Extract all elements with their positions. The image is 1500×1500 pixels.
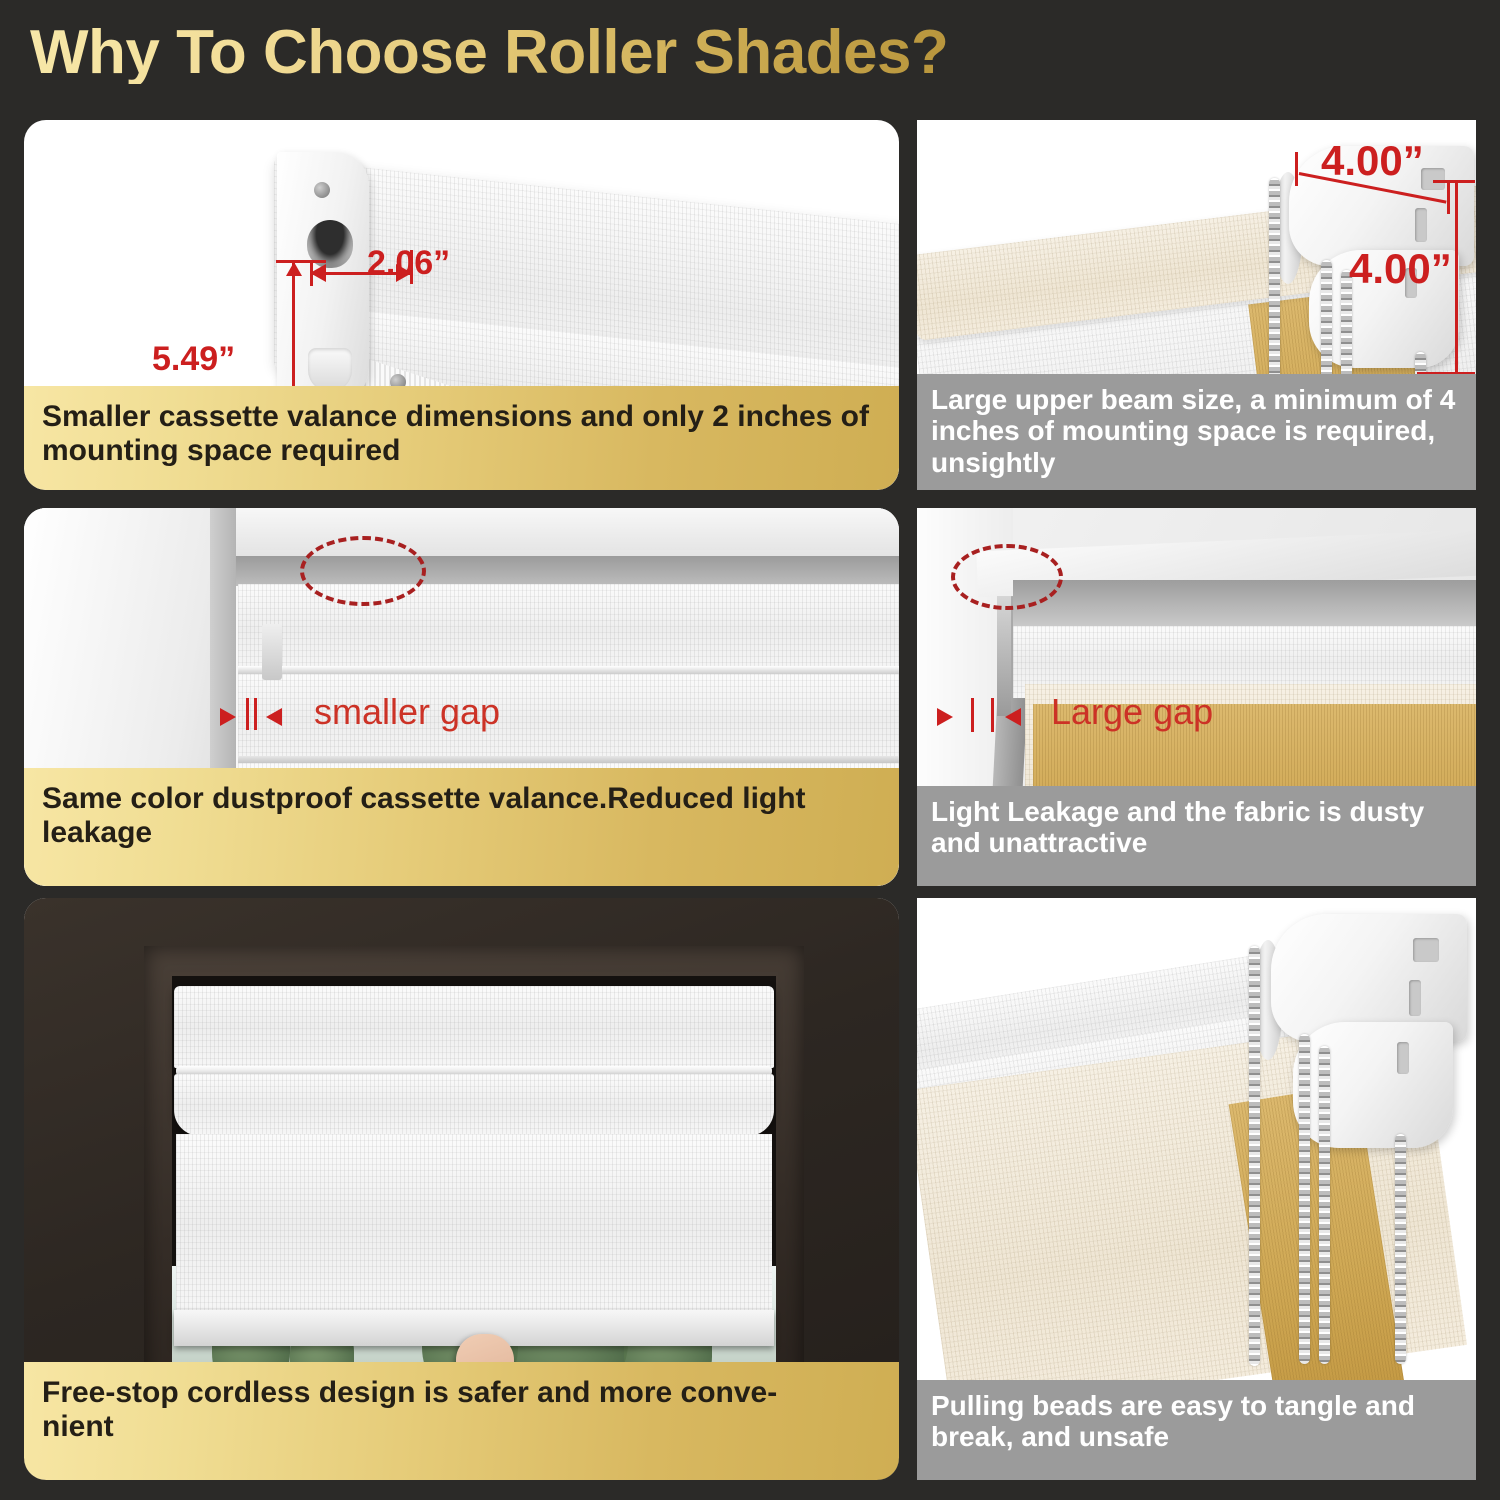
panel-caption: Pulling beads are easy to tangle and bre… (917, 1380, 1476, 1480)
bead-chain-4 (1395, 1134, 1406, 1364)
bracket-slot-2 (1415, 208, 1427, 242)
screw-top-icon (314, 182, 330, 198)
shade-fabric (176, 1134, 772, 1314)
beam-height-label: 4.00” (1349, 248, 1452, 290)
gap-highlight-ellipse (951, 544, 1063, 610)
bracket-slot-1 (1413, 938, 1439, 962)
fabric-fold-line (238, 756, 899, 763)
height-arrow-up-icon (286, 262, 302, 276)
gap-marker-b (254, 698, 257, 730)
gap-arrow-right-icon (1005, 708, 1021, 726)
bead-chain-1 (1249, 946, 1260, 1366)
width-dimension-label: 2.06” (367, 246, 450, 280)
panel-dustproof-valance: smaller gap Same color dustproof cassett… (24, 508, 899, 886)
valance-end-detail (262, 624, 282, 680)
cassette-valance (174, 986, 774, 1068)
gap-label: Large gap (1051, 694, 1213, 730)
panel-caption: Smaller cassette valance dimensions and … (24, 386, 899, 490)
gap-label: smaller gap (314, 694, 500, 730)
bead-chain-3 (1319, 1046, 1330, 1364)
gap-dark-band (1013, 580, 1476, 632)
gap-highlight-ellipse (300, 536, 426, 606)
gap-arrow-left-icon (220, 708, 236, 726)
gap-arrow-right-icon (266, 708, 282, 726)
gap-marker-a (971, 698, 974, 732)
bracket-slot-3 (1397, 1042, 1409, 1074)
panel-caption: Light Leakage and the fabric is dusty an… (917, 786, 1476, 886)
page-title: Why To Choose Roller Shades? (30, 22, 948, 84)
panel-upper-beam-size: 4.00” 4.00” Large upper beam size, a min… (917, 120, 1476, 490)
infographic-page: Why To Choose Roller Shades? 2.06” (0, 0, 1500, 1500)
comparison-grid: 2.06” 5.49” Smaller cassette valance dim… (24, 120, 1476, 1480)
beam-width-tick-left (1295, 152, 1298, 186)
bead-chain-2 (1299, 1034, 1310, 1364)
beam-width-tick-right (1447, 182, 1450, 214)
beam-width-label: 4.00” (1321, 140, 1424, 182)
bracket-slot-1 (1421, 168, 1445, 190)
valance-seam-line (238, 666, 899, 674)
width-arrow-left-icon (310, 264, 326, 282)
panel-caption: Large upper beam size, a minimum of 4 in… (917, 374, 1476, 490)
bracket-edge (997, 596, 1011, 716)
valance-lower-roll (174, 1074, 774, 1136)
gap-arrow-left-icon (937, 708, 953, 726)
gap-marker-b (991, 698, 994, 732)
panel-caption: Free-stop cordless design is safer and m… (24, 1362, 899, 1480)
panel-cassette-dimensions: 2.06” 5.49” Smaller cassette valance dim… (24, 120, 899, 490)
panel-pulling-beads: Pulling beads are easy to tangle and bre… (917, 898, 1476, 1480)
panel-light-leakage: Large gap Light Leakage and the fabric i… (917, 508, 1476, 886)
bracket-slot-2 (1409, 980, 1421, 1016)
panel-cordless-design: Free-stop cordless design is safer and m… (24, 898, 899, 1480)
mounting-bracket-bottom (1293, 1022, 1453, 1148)
gap-marker-a (246, 698, 249, 730)
beam-height-tick-top (1433, 180, 1475, 183)
beam-height-dimension-line (1455, 180, 1458, 376)
height-dimension-label: 5.49” (152, 342, 235, 376)
panel-caption: Same color dustproof cassette valance.Re… (24, 768, 899, 886)
